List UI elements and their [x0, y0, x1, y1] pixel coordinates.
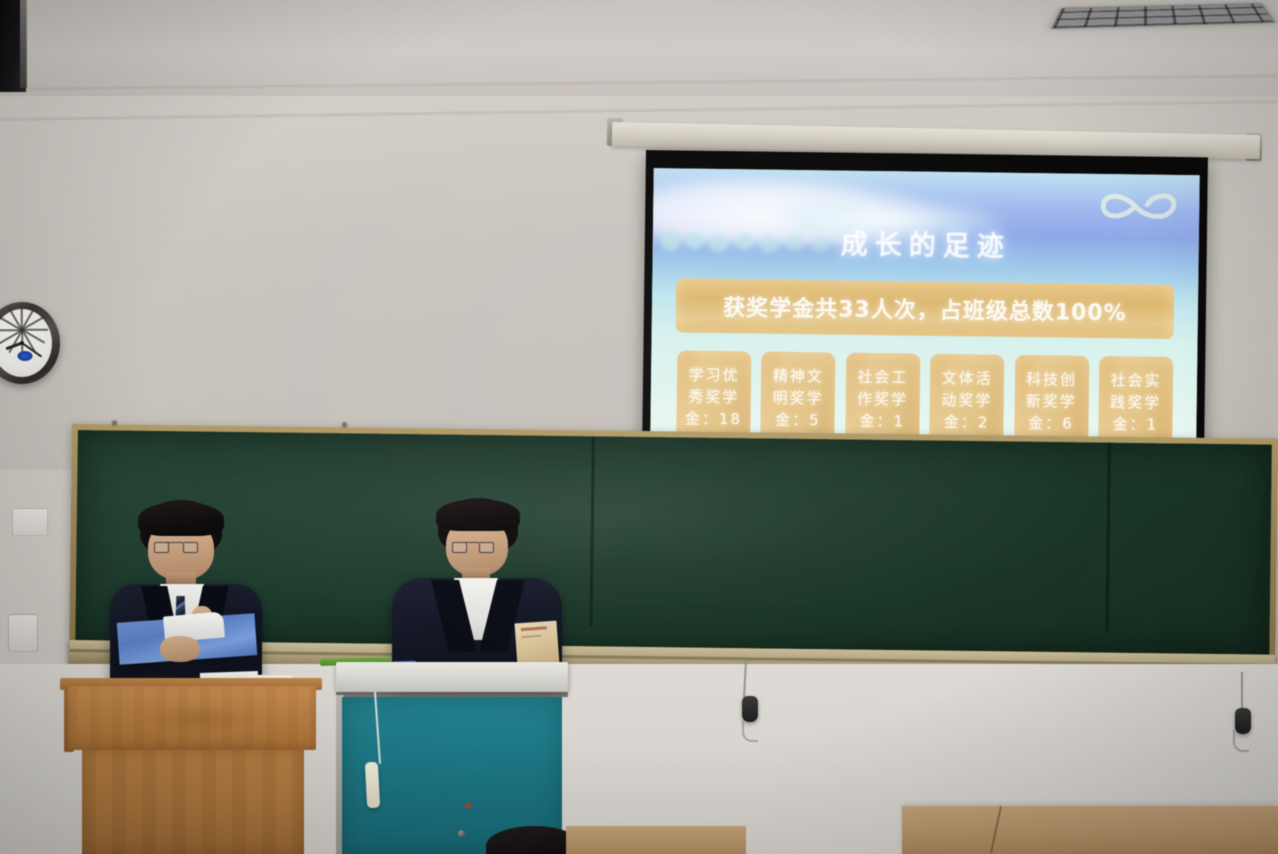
- door-frame-highlight: [20, 0, 27, 88]
- classroom-photo: 成长的足迹 获奖学金共33人次，占班级总数100% 学习优秀奖学金：18人次 精…: [0, 0, 1278, 854]
- presenter-left: [104, 500, 274, 700]
- wall-clock: [0, 302, 62, 386]
- hanging-cord: [1241, 672, 1243, 712]
- podium-top-surface: [336, 662, 568, 692]
- booklet-title-line: [521, 626, 547, 631]
- clock-center-pin: [20, 341, 24, 345]
- lectern-front-panel: [68, 686, 316, 750]
- presenter-right-glasses-bridge: [465, 542, 479, 552]
- chalkboard-screw: [112, 420, 117, 425]
- slide-banner: 获奖学金共33人次，占班级总数100%: [676, 278, 1175, 339]
- slide-banner-text: 获奖学金共33人次，占班级总数100%: [723, 290, 1127, 327]
- lectern-body: [82, 750, 304, 854]
- plug-wire: [742, 720, 758, 742]
- podium-indicator-light: [466, 803, 471, 808]
- desk-center: [566, 826, 746, 854]
- wooden-lectern: [60, 678, 322, 854]
- presenter-left-hair-top: [138, 502, 224, 536]
- presenter-right-hair-top: [436, 499, 520, 531]
- podium-remote[interactable]: [365, 762, 380, 809]
- infinity-logo-icon: [1093, 184, 1186, 229]
- desk-right: [902, 806, 1278, 854]
- wall-outlet[interactable]: [8, 614, 38, 652]
- clock-logo-dot: [18, 351, 33, 361]
- booklet-text-line: [521, 635, 541, 638]
- hanging-plug[interactable]: [742, 696, 758, 722]
- podium-booklet[interactable]: [515, 621, 560, 668]
- chalkboard-screw: [342, 422, 347, 427]
- presenter-left-hand-lower: [160, 636, 200, 662]
- plug-wire: [1233, 730, 1249, 752]
- podium-screw: [458, 830, 465, 837]
- wall-switch-plate[interactable]: [12, 508, 48, 536]
- presenter-right-glasses-lens: [479, 542, 494, 553]
- presenter-left-glasses-lens: [183, 542, 198, 553]
- presenter-left-glasses-bridge: [167, 542, 183, 552]
- slide-title: 成长的足迹: [653, 220, 1199, 266]
